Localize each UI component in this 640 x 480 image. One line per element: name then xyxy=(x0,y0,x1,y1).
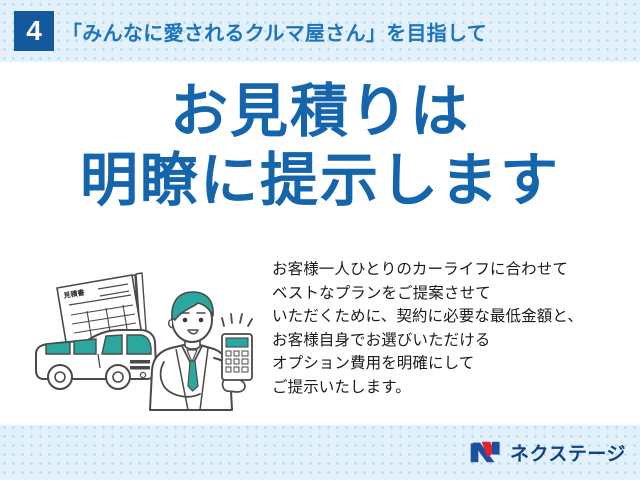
headline-line-2: 明瞭に提示します xyxy=(0,147,640,214)
promo-slide: 4 「みんなに愛されるクルマ屋さん」を目指して お見積りは 明瞭に提示します お… xyxy=(0,0,640,480)
nextage-logo-text: ネクステージ xyxy=(510,439,626,466)
nextage-n-mark-icon xyxy=(469,439,503,465)
step-number-badge: 4 xyxy=(14,11,54,51)
estimate-illustration: 見積書 xyxy=(24,258,264,418)
van-icon xyxy=(36,330,156,389)
headline-line-1: お見積りは xyxy=(0,78,640,145)
body-line: オプション費用を明確にして xyxy=(272,352,632,376)
calculator-icon xyxy=(222,334,252,380)
body-paragraph: お客様一人ひとりのカーライフに合わせて ベストなプランをご提案させて いただくた… xyxy=(272,258,632,399)
sparkle-icon xyxy=(222,314,252,326)
header-bar: 4 「みんなに愛されるクルマ屋さん」を目指して xyxy=(0,0,640,62)
header-title: 「みんなに愛されるクルマ屋さん」を目指して xyxy=(62,13,487,49)
body-line: いただくために、契約に必要な最低金額と、 xyxy=(272,305,632,329)
body-line: ご提示いたします。 xyxy=(272,376,632,400)
nextage-logo: ネクステージ xyxy=(469,437,626,467)
headline: お見積りは 明瞭に提示します xyxy=(0,78,640,215)
content-card: お見積りは 明瞭に提示します お客様一人ひとりのカーライフに合わせて ベストなプ… xyxy=(0,62,640,425)
footer-bar: ネクステージ xyxy=(0,425,640,480)
body-line: お客様一人ひとりのカーライフに合わせて xyxy=(272,258,632,282)
body-line: ベストなプランをご提案させて xyxy=(272,282,632,306)
body-line: お客様自身でお選びいただける xyxy=(272,329,632,353)
